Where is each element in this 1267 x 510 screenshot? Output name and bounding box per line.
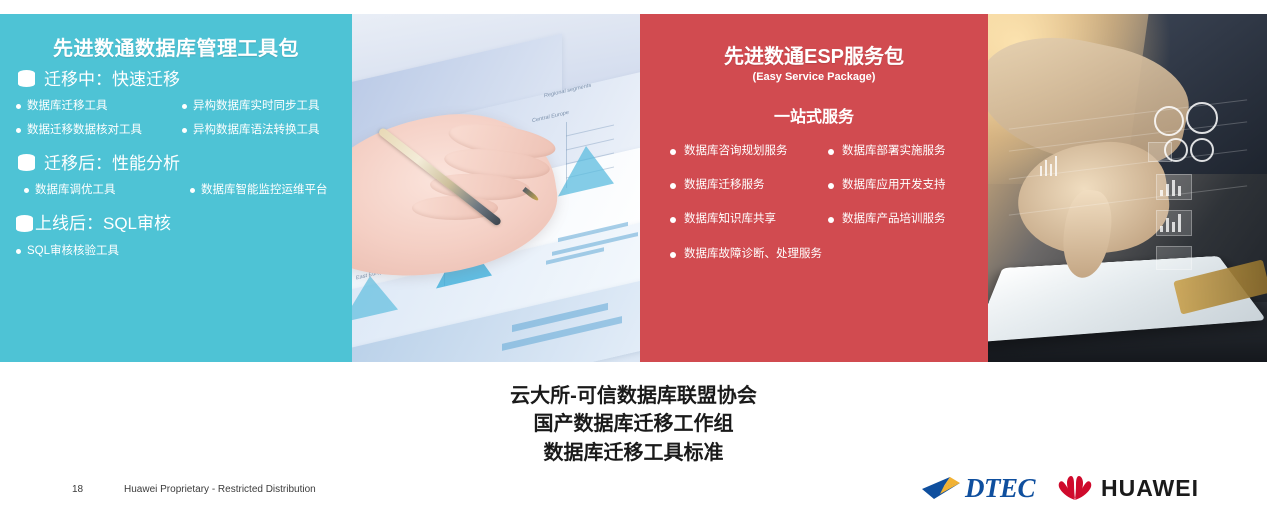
- left-panel-database-toolkit: 先进数通数据库管理工具包 迁移中：快速迁移 数据库迁移工具 异构数据库实时同步工…: [0, 14, 352, 362]
- bullet-dot-icon: [16, 249, 21, 254]
- left-section-heading-performance: 迁移后：性能分析: [18, 154, 342, 174]
- right-panel-heading: 一站式服务: [654, 103, 974, 127]
- caption-block: 云大所-可信数据库联盟协会 国产数据库迁移工作组 数据库迁移工具标准: [0, 382, 1267, 467]
- left-bullet-list-performance: 数据库调优工具 数据库智能监控运维平台: [10, 184, 342, 208]
- right-panel-subtitle: (Easy Service Package): [654, 71, 974, 83]
- bullet-dot-icon: [828, 183, 834, 189]
- left-section-heading-label: 上线后：SQL审核: [35, 215, 171, 234]
- list-item-label: 数据库迁移服务: [684, 179, 765, 192]
- photo-overlay-chart: [1156, 246, 1192, 270]
- list-item-label: 异构数据库语法转换工具: [193, 124, 320, 137]
- list-item-label: 数据库应用开发支持: [842, 179, 946, 192]
- huawei-logo: HUAWEI: [1057, 474, 1199, 502]
- bullet-dot-icon: [16, 104, 21, 109]
- list-item: 数据库迁移工具: [10, 100, 176, 113]
- list-item-label: 数据迁移数据核对工具: [27, 124, 142, 137]
- database-icon: [18, 154, 35, 174]
- list-item: 异构数据库实时同步工具: [176, 100, 342, 113]
- list-item: 数据库调优工具: [10, 184, 176, 197]
- left-bullet-list-sql-audit: SQL审核核验工具: [10, 245, 342, 269]
- list-item: 数据库知识库共享: [658, 213, 816, 226]
- list-item-label: 数据库产品培训服务: [842, 213, 946, 226]
- photo-overlay-ring-icon: [1190, 138, 1214, 162]
- bullet-dot-icon: [670, 252, 676, 258]
- bullet-dot-icon: [16, 128, 21, 133]
- footer-logos: DTEC HUAWEI: [920, 474, 1199, 502]
- list-item-label: 异构数据库实时同步工具: [193, 100, 320, 113]
- list-item-label: 数据库调优工具: [35, 184, 116, 197]
- bullet-dot-icon: [670, 217, 676, 223]
- right-panel-title: 先进数通ESP服务包: [654, 46, 974, 69]
- bullet-dot-icon: [182, 104, 187, 109]
- left-section-heading-migration: 迁移中：快速迁移: [18, 70, 342, 90]
- list-item-label: 数据库故障诊断、处理服务: [684, 248, 822, 261]
- right-panel-esp-service: 先进数通ESP服务包 (Easy Service Package) 一站式服务 …: [640, 14, 988, 362]
- list-item: 数据库产品培训服务: [816, 213, 974, 226]
- list-item: 数据库部署实施服务: [816, 145, 974, 158]
- left-panel-title: 先进数通数据库管理工具包: [10, 38, 342, 60]
- bullet-dot-icon: [828, 149, 834, 155]
- list-item: SQL审核核验工具: [10, 245, 342, 258]
- confidentiality-notice: Huawei Proprietary - Restricted Distribu…: [124, 484, 316, 495]
- left-section-heading-label: 迁移中：快速迁移: [44, 71, 180, 90]
- bullet-dot-icon: [670, 183, 676, 189]
- list-item-label: 数据库咨询规划服务: [684, 145, 788, 158]
- list-item-label: 数据库部署实施服务: [842, 145, 946, 158]
- database-icon: [16, 215, 33, 235]
- list-item: 数据库应用开发支持: [816, 179, 974, 192]
- list-item: 异构数据库语法转换工具: [176, 124, 342, 137]
- list-item: 数据库迁移服务: [658, 179, 816, 192]
- left-section-heading-label: 迁移后：性能分析: [44, 155, 180, 174]
- dtec-wordmark: DTEC: [965, 475, 1035, 502]
- right-bullet-list-services: 数据库咨询规划服务 数据库部署实施服务 数据库迁移服务 数据库应用开发支持 数据…: [654, 145, 974, 282]
- caption-line-2: 国产数据库迁移工作组: [0, 410, 1267, 438]
- left-bullet-list-migration: 数据库迁移工具 异构数据库实时同步工具 数据迁移数据核对工具 异构数据库语法转换…: [10, 100, 342, 148]
- bullet-dot-icon: [190, 188, 195, 193]
- left-section-heading-sql-audit: 上线后：SQL审核: [16, 215, 342, 235]
- list-item-label: 数据库知识库共享: [684, 213, 776, 226]
- photo-hand-writing-analytics: Regional segments Central Europe West Eu…: [352, 14, 640, 362]
- database-icon: [18, 70, 35, 90]
- bullet-dot-icon: [670, 149, 676, 155]
- list-item-label: SQL审核核验工具: [27, 245, 119, 258]
- caption-line-1: 云大所-可信数据库联盟协会: [0, 382, 1267, 410]
- dtec-arrow-icon: [920, 474, 964, 502]
- list-item: 数据库故障诊断、处理服务: [658, 248, 974, 261]
- dtec-logo: DTEC: [920, 474, 1035, 502]
- bullet-dot-icon: [182, 128, 187, 133]
- caption-line-3: 数据库迁移工具标准: [0, 439, 1267, 467]
- huawei-wordmark: HUAWEI: [1101, 477, 1199, 500]
- list-item: 数据库咨询规划服务: [658, 145, 816, 158]
- huawei-flower-icon: [1057, 474, 1093, 502]
- list-item: 数据迁移数据核对工具: [10, 124, 176, 137]
- page-number: 18: [72, 484, 83, 495]
- bullet-dot-icon: [828, 217, 834, 223]
- list-item-label: 数据库智能监控运维平台: [201, 184, 328, 197]
- list-item: 数据库智能监控运维平台: [176, 184, 342, 197]
- slide-footer: 18 Huawei Proprietary - Restricted Distr…: [0, 478, 1267, 510]
- photo-finger-on-tablet: [988, 14, 1267, 362]
- bullet-dot-icon: [24, 188, 29, 193]
- banner-strip: 先进数通数据库管理工具包 迁移中：快速迁移 数据库迁移工具 异构数据库实时同步工…: [0, 14, 1267, 362]
- list-item-label: 数据库迁移工具: [27, 100, 108, 113]
